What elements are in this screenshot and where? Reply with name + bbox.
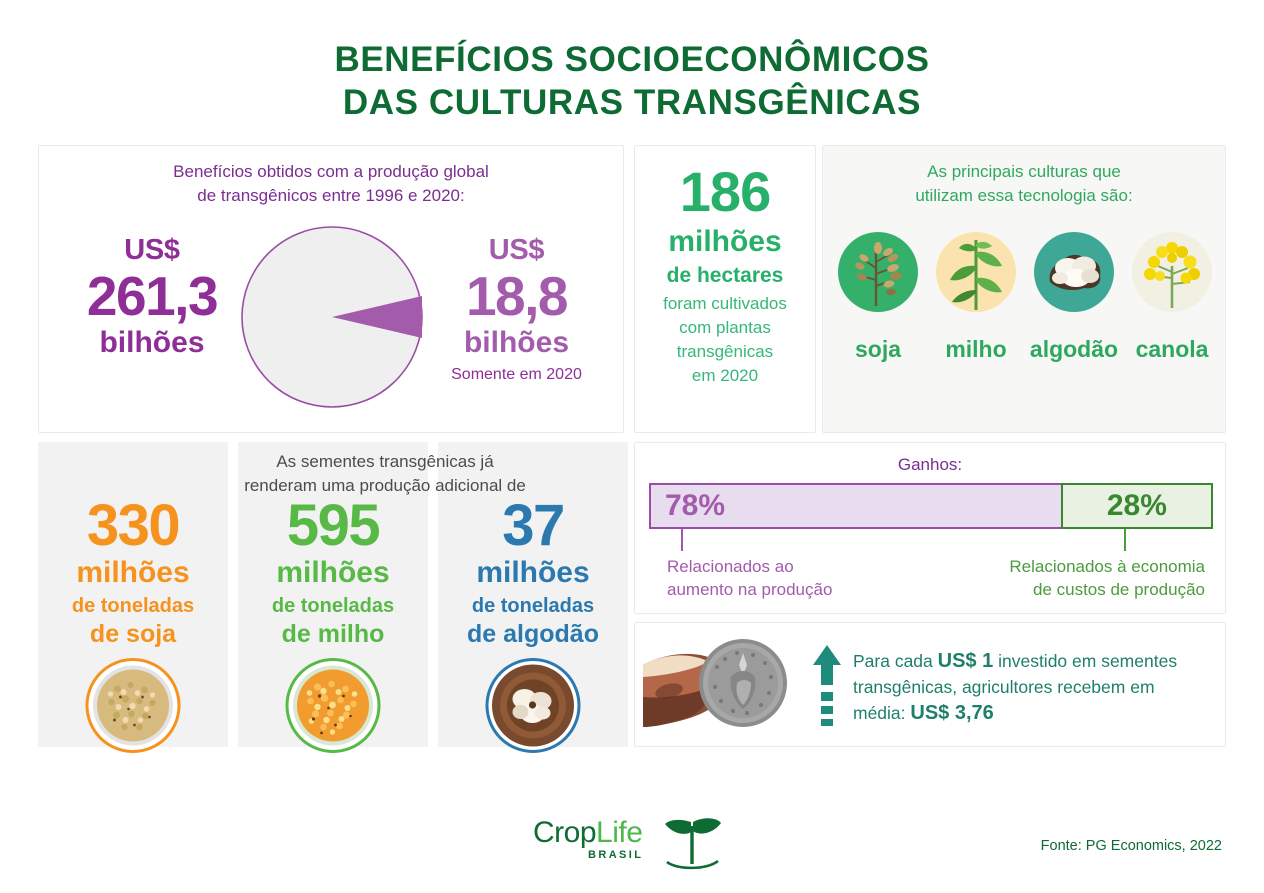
crops-list: soja milho [831, 232, 1219, 362]
crop-label-algodao: algodão [1027, 336, 1121, 362]
logo-life-text: Life [596, 816, 642, 849]
roi-text: Para cada US$ 1 investido em sementes tr… [853, 648, 1205, 726]
benefits-2020-block: US$ 18,8 bilhões Somente em 2020 [419, 233, 614, 385]
pie-chart-svg [240, 225, 424, 409]
ganhos-caption-producao: Relacionados ao aumento na produção [667, 555, 887, 601]
crops-heading-line-1: As principais culturas que [823, 160, 1225, 184]
benefits-2020-unit: bilhões [419, 325, 614, 361]
stat-soja-of: de soja [38, 619, 228, 650]
source-note: Fonte: PG Economics, 2022 [1041, 838, 1222, 854]
ganhos-caption-custos-line-1: Relacionados à economia [925, 555, 1205, 578]
crop-label-canola: canola [1125, 336, 1219, 362]
logo-crop-text: Crop [533, 816, 596, 849]
stat-algodao-of: de algodão [438, 619, 628, 650]
sprout-glyph [661, 808, 723, 870]
stat-milho-ton: de toneladas [238, 594, 428, 619]
hectares-description: foram cultivados com plantas transgênica… [635, 292, 815, 388]
roi-amount-invested: US$ 1 [938, 650, 994, 672]
crop-item-algodao: algodão [1027, 232, 1121, 362]
seeds-heading-line-1: As sementes transgênicas já [150, 450, 620, 474]
ganhos-segment-custos: 28% [1061, 483, 1213, 529]
roi-text-a: Para cada [853, 651, 938, 671]
benefits-total-unit: bilhões [57, 325, 247, 361]
page-title: BENEFÍCIOS SOCIOECONÔMICOS DAS CULTURAS … [0, 38, 1264, 124]
benefits-2020-note: Somente em 2020 [419, 365, 614, 385]
ganhos-panel: Ganhos: 78% 28% Relacionados ao aumento … [634, 442, 1226, 614]
ganhos-segment-producao: 78% [649, 483, 1061, 529]
benefits-pie-chart [240, 225, 424, 409]
ganhos-bar: 78% 28% [649, 483, 1213, 529]
seeds-heading: As sementes transgênicas já renderam uma… [150, 450, 620, 498]
hand-holding-coin-icon [643, 631, 795, 739]
stat-milho-unit: milhões [238, 555, 428, 591]
roi-amount-returned: US$ 3,76 [910, 702, 993, 724]
hectares-panel: 186 milhões de hectares foram cultivados… [634, 145, 816, 433]
roi-panel: Para cada US$ 1 investido em sementes tr… [634, 622, 1226, 747]
benefits-2020-value: 18,8 [419, 267, 614, 325]
stat-milho-of: de milho [238, 619, 428, 650]
hectares-unit: milhões [635, 224, 815, 260]
corn-bowl-glyph [285, 657, 382, 754]
seeds-heading-line-2: renderam uma produção adicional de [150, 474, 620, 498]
stat-algodao-ton: de toneladas [438, 594, 628, 619]
ganhos-caption-custos-line-2: de custos de produção [925, 578, 1205, 601]
stat-algodao-unit: milhões [438, 555, 628, 591]
cotton-bowl-glyph [485, 657, 582, 754]
crop-item-canola: canola [1125, 232, 1219, 362]
corn-plant-glyph [936, 232, 1016, 312]
cotton-bowl-icon [485, 657, 582, 754]
title-line-2: DAS CULTURAS TRANSGÊNICAS [0, 81, 1264, 124]
stat-algodao-number: 37 [438, 496, 628, 556]
soybean-bowl-glyph [85, 657, 182, 754]
ganhos-tick-left [681, 529, 683, 551]
sprout-icon [661, 808, 723, 870]
ganhos-title: Ganhos: [635, 453, 1225, 477]
up-arrow-glyph [813, 645, 841, 727]
ganhos-caption-custos: Relacionados à economia de custos de pro… [925, 555, 1205, 601]
soybean-bowl-icon [85, 657, 182, 754]
hectares-desc-line-2: com plantas [635, 316, 815, 340]
hectares-desc-line-4: em 2020 [635, 364, 815, 388]
hectares-desc-line-1: foram cultivados [635, 292, 815, 316]
crop-label-milho: milho [929, 336, 1023, 362]
ganhos-tick-right [1124, 529, 1126, 551]
corn-bowl-icon [285, 657, 382, 754]
stat-soja-unit: milhões [38, 555, 228, 591]
ganhos-caption-producao-line-1: Relacionados ao [667, 555, 887, 578]
ganhos-value-custos: 28% [1107, 489, 1167, 523]
title-line-1: BENEFÍCIOS SOCIOECONÔMICOS [334, 40, 929, 79]
stat-soja-number: 330 [38, 496, 228, 556]
logo-brasil-text: BRASIL [588, 849, 643, 861]
hectares-desc-line-3: transgênicas [635, 340, 815, 364]
cotton-boll-glyph [1034, 232, 1114, 312]
ganhos-caption-producao-line-2: aumento na produção [667, 578, 887, 601]
benefits-heading-line-1: Benefícios obtidos com a produção global [39, 160, 623, 184]
crop-item-soja: soja [831, 232, 925, 362]
hectares-number: 186 [635, 163, 815, 221]
soybean-plant-icon [838, 232, 918, 312]
crops-heading: As principais culturas que utilizam essa… [823, 160, 1225, 208]
stat-milho-number: 595 [238, 496, 428, 556]
benefits-total-currency: US$ [57, 233, 247, 267]
crops-heading-line-2: utilizam essa tecnologia são: [823, 184, 1225, 208]
crop-item-milho: milho [929, 232, 1023, 362]
canola-flower-icon [1132, 232, 1212, 312]
benefits-2020-currency: US$ [419, 233, 614, 267]
stat-soja-ton: de toneladas [38, 594, 228, 619]
corn-plant-icon [936, 232, 1016, 312]
infographic-page: BENEFÍCIOS SOCIOECONÔMICOS DAS CULTURAS … [0, 0, 1264, 893]
benefits-panel: Benefícios obtidos com a produção global… [38, 145, 624, 433]
cotton-boll-icon [1034, 232, 1114, 312]
soybean-plant-glyph [838, 232, 918, 312]
logo-wordmark: CropLife [533, 816, 642, 850]
canola-flower-glyph [1132, 232, 1212, 312]
crop-label-soja: soja [831, 336, 925, 362]
hectares-of: de hectares [635, 263, 815, 289]
hand-coin-glyph [643, 631, 795, 739]
benefits-total-value: 261,3 [57, 267, 247, 325]
up-arrow-icon [813, 645, 841, 727]
ganhos-value-producao: 78% [651, 489, 725, 523]
benefits-heading: Benefícios obtidos com a produção global… [39, 160, 623, 208]
croplife-brasil-logo: CropLife BRASIL [533, 805, 723, 873]
benefits-heading-line-2: de transgênicos entre 1996 e 2020: [39, 184, 623, 208]
benefits-total-block: US$ 261,3 bilhões [57, 233, 247, 361]
crops-panel: As principais culturas que utilizam essa… [822, 145, 1226, 433]
